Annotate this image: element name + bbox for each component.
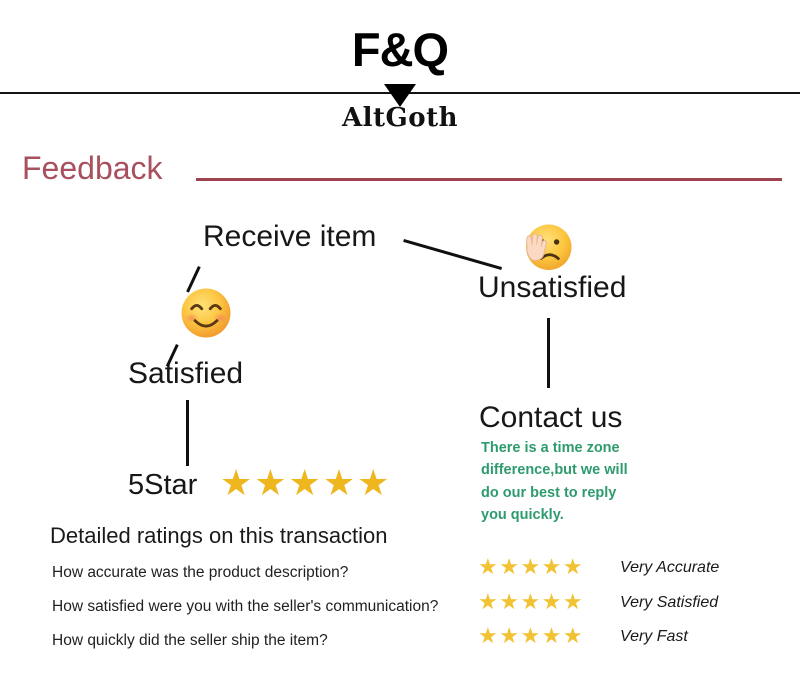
flow-node-satisfied: Satisfied (128, 359, 243, 389)
face-with-hand-over-mouth-icon (519, 221, 575, 277)
rating-verdict: Very Satisfied (620, 595, 718, 611)
contact-note-line: do our best to reply (481, 482, 751, 504)
brand-logo: AltGoth (0, 104, 800, 133)
rating-verdict: Very Accurate (620, 560, 719, 576)
flow-node-receive-item: Receive item (203, 222, 376, 252)
rating-stars-icon: ★★★★★ (478, 626, 584, 648)
rating-question: How satisfied were you with the seller's… (52, 599, 438, 615)
rating-question: How accurate was the product description… (52, 565, 348, 581)
contact-note: There is a time zone difference,but we w… (481, 437, 751, 527)
rating-verdict: Very Fast (620, 629, 688, 645)
connector-receive-to-unsatisfied (403, 239, 502, 270)
rating-question: How quickly did the seller ship the item… (52, 633, 328, 649)
smiling-face-with-smiling-eyes-icon (179, 286, 233, 340)
fivestar-rating-icon: ★★★★★ (220, 466, 391, 502)
contact-note-line: difference,but we will (481, 459, 751, 481)
feedback-heading-rule (196, 178, 782, 181)
rating-stars-icon: ★★★★★ (478, 592, 584, 614)
rating-stars-icon: ★★★★★ (478, 557, 584, 579)
connector-satisfied-to-fivestar (186, 400, 189, 466)
flow-node-contact-us: Contact us (479, 403, 622, 433)
feedback-heading: Feedback (22, 152, 163, 184)
faq-feedback-page: F&Q AltGoth Feedback Receive item (0, 0, 800, 680)
fivestar-label: 5Star (128, 471, 197, 500)
contact-note-line: you quickly. (481, 504, 751, 526)
contact-note-line: There is a time zone (481, 437, 751, 459)
page-title: F&Q (0, 26, 800, 73)
flow-node-unsatisfied: Unsatisfied (478, 273, 626, 303)
connector-unsatisfied-to-contact (547, 318, 550, 388)
detailed-ratings-title: Detailed ratings on this transaction (50, 525, 388, 547)
